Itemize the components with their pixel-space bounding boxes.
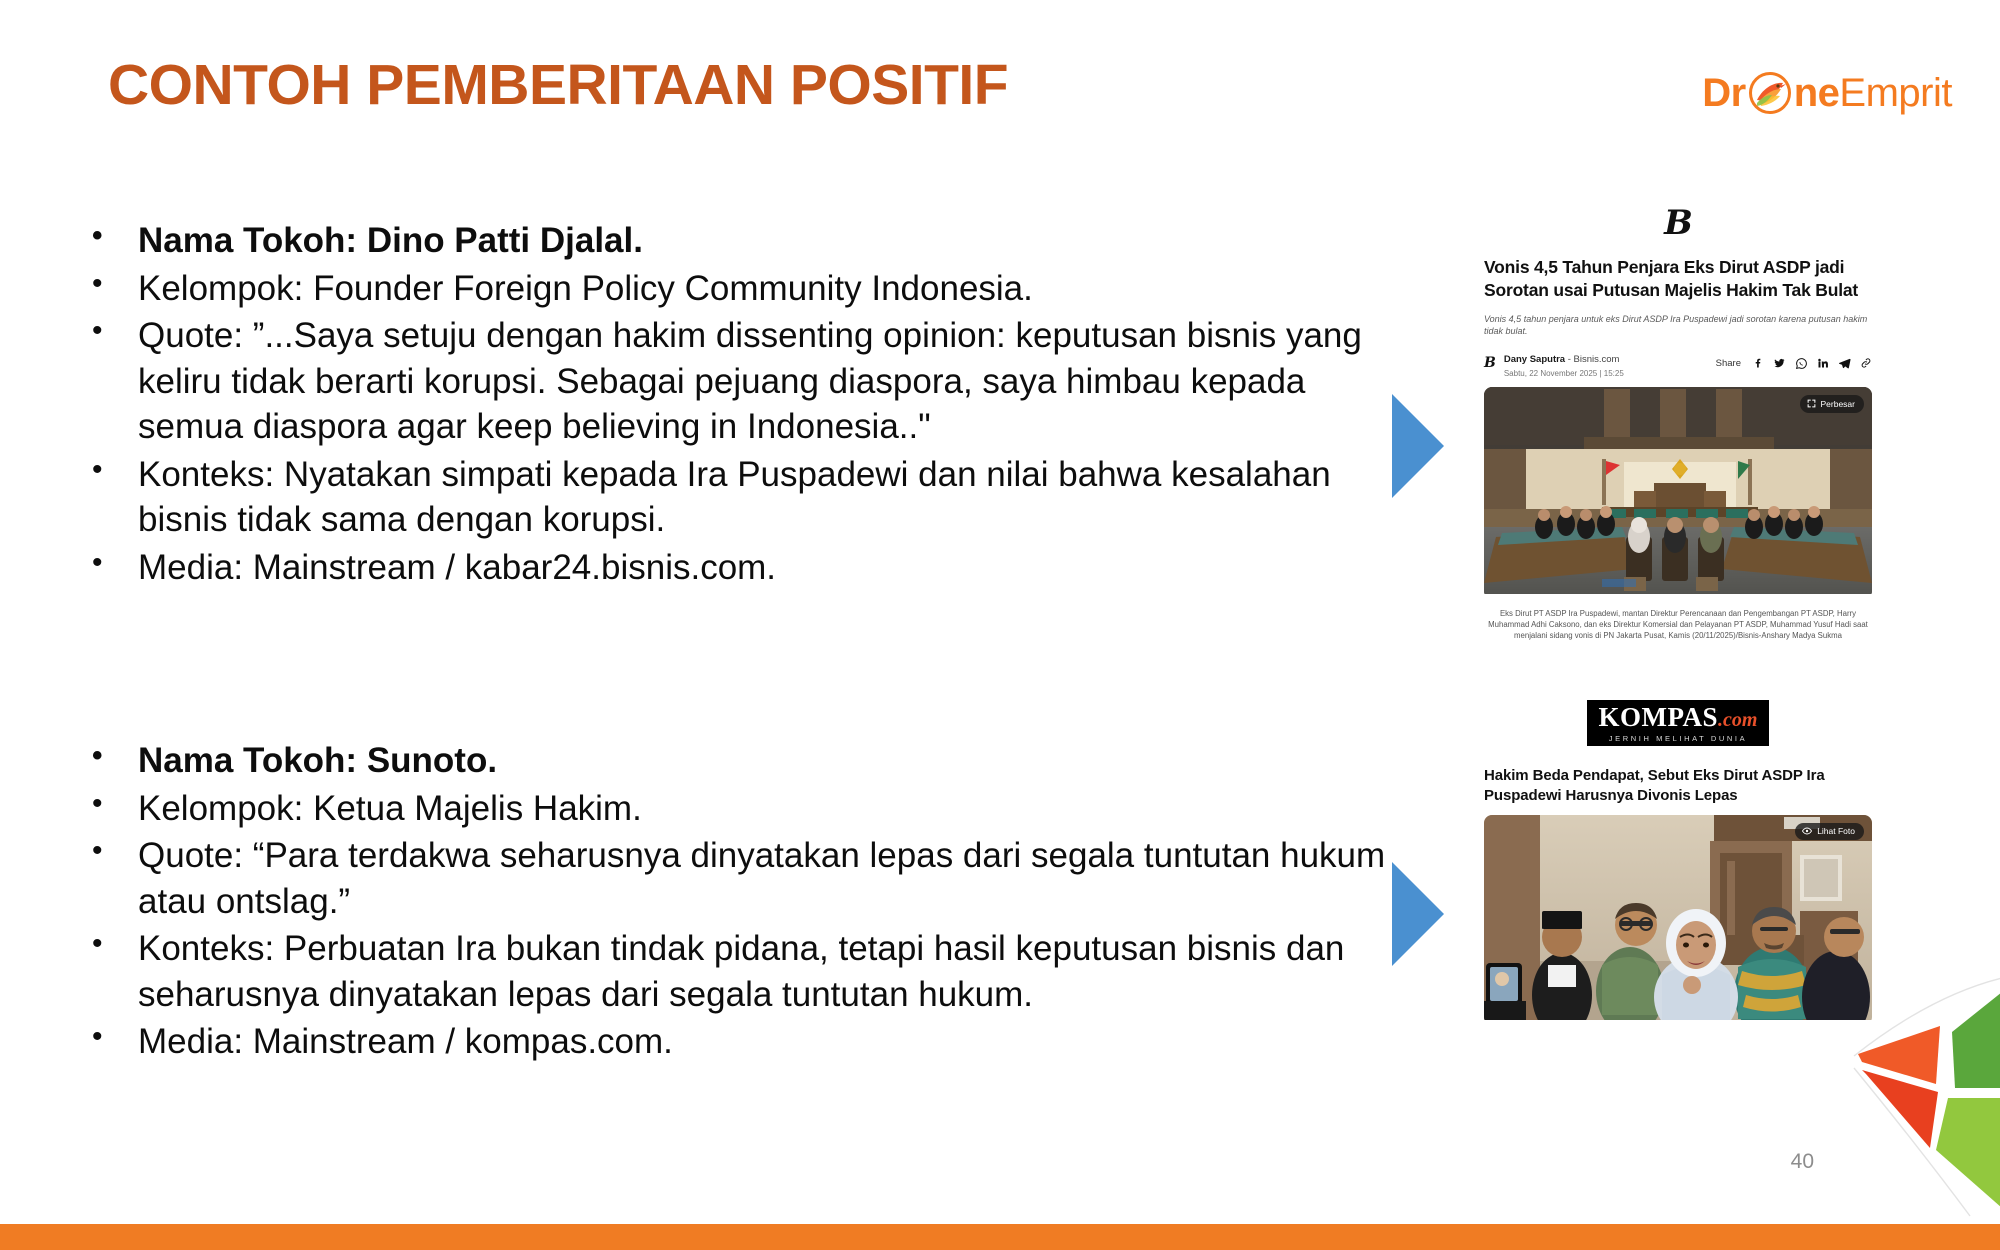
content-block-sunoto: Nama Tokoh: Sunoto. Kelompok: Ketua Maje… <box>86 738 1386 1067</box>
logo-text-ne: ne <box>1794 73 1840 113</box>
kompas-tagline: JERNIH MELIHAT DUNIA <box>1609 734 1747 743</box>
facebook-icon[interactable] <box>1752 357 1764 369</box>
perbesar-button[interactable]: Perbesar <box>1800 395 1865 414</box>
drone-emprit-logo: Dr ne Emprit <box>1702 62 1952 124</box>
slide-canvas: CONTOH PEMBERITAAN POSITIF Dr ne Emprit … <box>0 0 2000 1250</box>
list-item: Kelompok: Ketua Majelis Hakim. <box>86 786 1386 832</box>
corner-fan-decoration <box>1740 970 2000 1220</box>
arrow-right-icon-2 <box>1392 862 1444 966</box>
author-source: - Bisnis.com <box>1565 354 1619 365</box>
content-block-dino: Nama Tokoh: Dino Patti Djalal. Kelompok:… <box>86 218 1386 592</box>
list-item: Konteks: Nyatakan simpati kepada Ira Pus… <box>86 452 1386 543</box>
news-card-bisnis: B Vonis 4,5 Tahun Penjara Eks Dirut ASDP… <box>1484 206 1872 642</box>
list-item: Quote: ”...Saya setuju dengan hakim diss… <box>86 313 1386 450</box>
news-deck-bisnis: Vonis 4,5 tahun penjara untuk eks Dirut … <box>1484 313 1872 337</box>
news-photo-courtroom[interactable]: Perbesar <box>1484 387 1872 599</box>
lihat-foto-button[interactable]: Lihat Foto <box>1795 823 1864 841</box>
eye-icon <box>1802 827 1812 837</box>
list-item: Media: Mainstream / kabar24.bisnis.com. <box>86 545 1386 591</box>
byline-row: B Dany Saputra - Bisnis.com Sabtu, 22 No… <box>1484 349 1872 378</box>
news-headline-kompas: Hakim Beda Pendapat, Sebut Eks Dirut ASD… <box>1484 766 1872 806</box>
lihat-foto-label: Lihat Foto <box>1817 827 1855 836</box>
byline-text: Dany Saputra - Bisnis.com Sabtu, 22 Nove… <box>1504 349 1708 378</box>
page-title: CONTOH PEMBERITAAN POSITIF <box>108 52 1008 118</box>
kompas-word: KOMPAS <box>1599 702 1719 732</box>
list-item: Nama Tokoh: Sunoto. <box>86 738 1386 784</box>
author-name: Dany Saputra <box>1504 354 1565 365</box>
linkedin-icon[interactable] <box>1817 357 1829 369</box>
kompas-dotcom: .com <box>1718 709 1757 731</box>
list-item: Media: Mainstream / kompas.com. <box>86 1019 1386 1065</box>
kompas-logo-text: KOMPAS.com <box>1599 704 1758 731</box>
bullet-list-1: Nama Tokoh: Dino Patti Djalal. Kelompok:… <box>86 218 1386 590</box>
link-icon[interactable] <box>1860 357 1872 369</box>
news-headline-bisnis: Vonis 4,5 Tahun Penjara Eks Dirut ASDP j… <box>1484 256 1872 302</box>
byline-author: Dany Saputra - Bisnis.com <box>1504 354 1620 365</box>
logo-text-dr: Dr <box>1702 73 1745 113</box>
bullet-list-2: Nama Tokoh: Sunoto. Kelompok: Ketua Maje… <box>86 738 1386 1065</box>
bird-in-circle-icon <box>1747 70 1793 116</box>
twitter-icon[interactable] <box>1773 357 1786 369</box>
logo-text-emprit: Emprit <box>1839 73 1952 113</box>
arrow-right-icon-1 <box>1392 394 1444 498</box>
perbesar-label: Perbesar <box>1821 400 1856 409</box>
list-item: Nama Tokoh: Dino Patti Djalal. <box>86 218 1386 264</box>
telegram-icon[interactable] <box>1838 357 1851 370</box>
bisnis-mark-icon: B <box>1484 356 1496 370</box>
kompas-logo: KOMPAS.com JERNIH MELIHAT DUNIA <box>1587 700 1769 746</box>
share-row: Share <box>1716 357 1872 370</box>
whatsapp-icon[interactable] <box>1795 357 1808 370</box>
list-item: Konteks: Perbuatan Ira bukan tindak pida… <box>86 926 1386 1017</box>
list-item: Kelompok: Founder Foreign Policy Communi… <box>86 266 1386 312</box>
list-item: Quote: “Para terdakwa seharusnya dinyata… <box>86 833 1386 924</box>
news-photo-caption: Eks Dirut PT ASDP Ira Puspadewi, mantan … <box>1484 608 1872 642</box>
share-label: Share <box>1716 358 1741 369</box>
expand-icon <box>1807 399 1816 410</box>
byline-date: Sabtu, 22 November 2025 | 15:25 <box>1504 369 1708 378</box>
bisnis-logo-icon: B <box>1484 206 1872 240</box>
page-number: 40 <box>1791 1150 1814 1174</box>
courtroom-photo <box>1484 387 1872 594</box>
bottom-accent-bar <box>0 1224 2000 1250</box>
